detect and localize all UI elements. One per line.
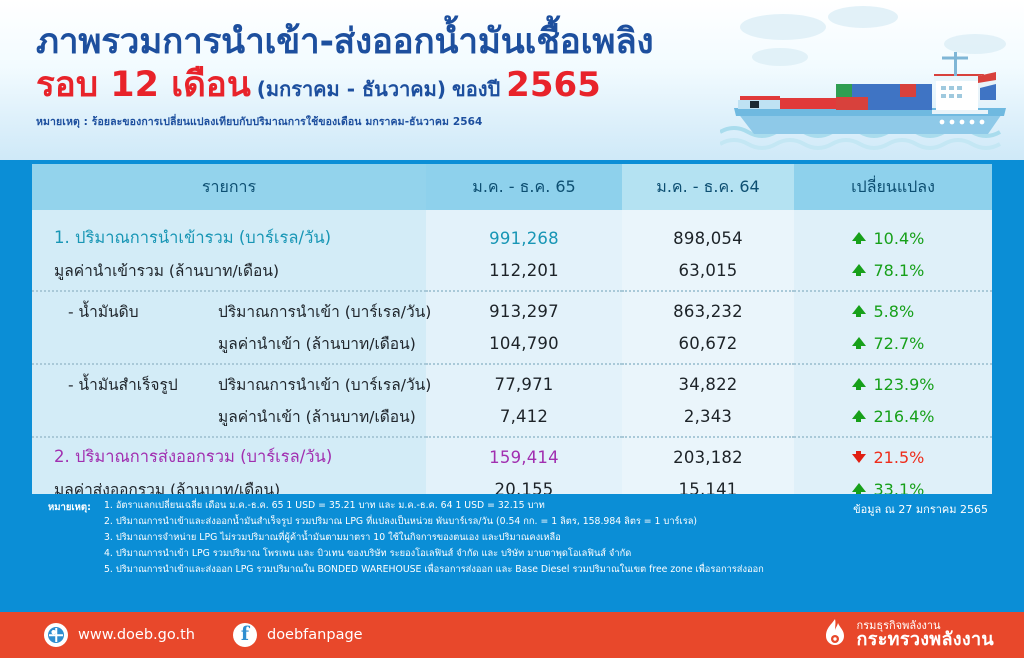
value-2565: 104,790 bbox=[489, 334, 559, 353]
value-2564: 203,182 bbox=[673, 448, 743, 467]
facebook-icon[interactable]: f bbox=[233, 623, 257, 647]
col-header-2564: ม.ค. - ธ.ค. 64 bbox=[622, 164, 794, 210]
footnote-item: 2. ปริมาณการนำเข้าและส่งออกน้ำมันสำเร็จร… bbox=[104, 514, 804, 530]
footer-bar: www.doeb.go.th f doebfanpage กรมธุรกิจพล… bbox=[0, 612, 1024, 658]
row-label: มูลค่านำเข้ารวม (ล้านบาท/เดือน) bbox=[54, 258, 425, 283]
row-separator bbox=[32, 359, 992, 368]
change-percent: 21.5% bbox=[874, 448, 936, 467]
header-subnote: หมายเหตุ : ร้อยละของการเปลี่ยนแปลงเทียบก… bbox=[36, 113, 756, 130]
value-2564: 60,672 bbox=[679, 334, 738, 353]
col-header-2565: ม.ค. - ธ.ค. 65 bbox=[426, 164, 622, 210]
value-2565: 7,412 bbox=[500, 407, 548, 426]
page-title-line1: ภาพรวมการนำเข้า-ส่งออกน้ำมันเชื้อเพลิง bbox=[36, 22, 756, 63]
website-link[interactable]: www.doeb.go.th bbox=[78, 627, 195, 643]
globe-icon[interactable] bbox=[44, 623, 68, 647]
infographic-page: ภาพรวมการนำเข้า-ส่งออกน้ำมันเชื้อเพลิง ร… bbox=[0, 0, 1024, 658]
row-label-secondary: ปริมาณการนำเข้า (บาร์เรล/วัน) bbox=[218, 372, 431, 397]
change-percent: 123.9% bbox=[874, 375, 936, 394]
row-label-primary: 2. ปริมาณการส่งออกรวม (บาร์เรล/วัน) bbox=[54, 444, 332, 470]
value-2565: 159,414 bbox=[489, 448, 559, 467]
title-of-year: ของปี bbox=[452, 73, 500, 105]
table-row: มูลค่านำเข้ารวม (ล้านบาท/เดือน)112,20163… bbox=[32, 254, 992, 286]
cloud-decoration bbox=[828, 6, 898, 28]
row-label-primary: 1. ปริมาณการนำเข้ารวม (บาร์เรล/วัน) bbox=[54, 225, 331, 251]
change-percent: 72.7% bbox=[874, 334, 936, 353]
footer-social-links: www.doeb.go.th f doebfanpage bbox=[44, 623, 363, 647]
title-year: 2565 bbox=[506, 65, 601, 105]
table-row: 1. ปริมาณการนำเข้ารวม (บาร์เรล/วัน)991,2… bbox=[32, 222, 992, 254]
row-separator bbox=[32, 286, 992, 295]
col-header-change: เปลี่ยนแปลง bbox=[794, 164, 992, 210]
change-cell: 5.8% bbox=[795, 302, 991, 321]
change-cell: 72.7% bbox=[795, 334, 991, 353]
change-percent: 216.4% bbox=[874, 407, 936, 426]
row-label: 2. ปริมาณการส่งออกรวม (บาร์เรล/วัน) bbox=[54, 444, 425, 470]
import-export-table: รายการ ม.ค. - ธ.ค. 65 ม.ค. - ธ.ค. 64 เปล… bbox=[32, 164, 992, 519]
arrow-up-icon bbox=[851, 410, 867, 422]
footnotes-label: หมายเหตุ: bbox=[48, 500, 91, 515]
footnote-item: 3. ปริมาณการจำหน่าย LPG ไม่รวมปริมาณที่ผ… bbox=[104, 530, 804, 546]
value-2564: 863,232 bbox=[673, 302, 743, 321]
row-label-primary: - น้ำมันสำเร็จรูป bbox=[68, 372, 218, 397]
value-2565: 991,268 bbox=[489, 229, 559, 248]
brand-text: กรมธุรกิจพลังงาน กระทรวงพลังงาน bbox=[857, 620, 994, 650]
data-table-panel: รายการ ม.ค. - ธ.ค. 65 ม.ค. - ธ.ค. 64 เปล… bbox=[32, 164, 992, 490]
row-label: 1. ปริมาณการนำเข้ารวม (บาร์เรล/วัน) bbox=[54, 225, 425, 251]
row-label-secondary: มูลค่านำเข้า (ล้านบาท/เดือน) bbox=[218, 404, 416, 429]
table-row: - น้ำมันสำเร็จรูปปริมาณการนำเข้า (บาร์เร… bbox=[32, 368, 992, 400]
title-period: รอบ 12 เดือน bbox=[36, 66, 251, 105]
table-row: 2. ปริมาณการส่งออกรวม (บาร์เรล/วัน)159,4… bbox=[32, 441, 992, 473]
flame-logo-icon bbox=[822, 618, 848, 652]
row-label-secondary: ปริมาณการนำเข้า (บาร์เรล/วัน) bbox=[218, 299, 431, 324]
value-2564: 2,343 bbox=[684, 407, 732, 426]
change-percent: 10.4% bbox=[874, 229, 936, 248]
change-cell: 216.4% bbox=[795, 407, 991, 426]
footnote-item: 1. อัตราแลกเปลี่ยนเฉลี่ย เดือน ม.ค.-ธ.ค.… bbox=[104, 498, 804, 514]
value-2564: 898,054 bbox=[673, 229, 743, 248]
row-separator bbox=[32, 432, 992, 441]
footnotes-section: หมายเหตุ: 1. อัตราแลกเปลี่ยนเฉลี่ย เดือน… bbox=[0, 494, 1024, 606]
table-row: - น้ำมันดิบปริมาณการนำเข้า (บาร์เรล/วัน)… bbox=[32, 295, 992, 327]
change-cell: 123.9% bbox=[795, 375, 991, 394]
arrow-up-icon bbox=[851, 337, 867, 349]
ministry-logo: กรมธุรกิจพลังงาน กระทรวงพลังงาน bbox=[822, 618, 994, 652]
arrow-up-icon bbox=[851, 232, 867, 244]
row-label: มูลค่านำเข้า (ล้านบาท/เดือน) bbox=[54, 404, 425, 429]
cargo-ship-icon bbox=[720, 36, 1020, 156]
title-block: ภาพรวมการนำเข้า-ส่งออกน้ำมันเชื้อเพลิง ร… bbox=[36, 22, 756, 130]
row-label: - น้ำมันสำเร็จรูปปริมาณการนำเข้า (บาร์เร… bbox=[54, 372, 425, 397]
change-cell: 78.1% bbox=[795, 261, 991, 280]
row-label-secondary: มูลค่านำเข้า (ล้านบาท/เดือน) bbox=[218, 331, 416, 356]
footnote-item: 5. ปริมาณการนำเข้าและส่งออก LPG รวมปริมา… bbox=[104, 562, 804, 578]
value-2564: 63,015 bbox=[679, 261, 738, 280]
facebook-link[interactable]: doebfanpage bbox=[267, 627, 363, 643]
value-2564: 34,822 bbox=[679, 375, 738, 394]
arrow-up-icon bbox=[851, 378, 867, 390]
value-2565: 112,201 bbox=[489, 261, 559, 280]
row-label: - น้ำมันดิบปริมาณการนำเข้า (บาร์เรล/วัน) bbox=[54, 299, 425, 324]
arrow-up-icon bbox=[851, 305, 867, 317]
value-2565: 913,297 bbox=[489, 302, 559, 321]
brand-ministry: กระทรวงพลังงาน bbox=[857, 631, 994, 650]
footnote-item: 4. ปริมาณการนำเข้า LPG รวมปริมาณ โพรเพน … bbox=[104, 546, 804, 562]
arrow-down-icon bbox=[851, 451, 867, 463]
row-spacer bbox=[32, 210, 992, 222]
page-title-line2: รอบ 12 เดือน (มกราคม - ธันวาคม) ของปี 25… bbox=[36, 65, 756, 105]
change-percent: 78.1% bbox=[874, 261, 936, 280]
col-header-item: รายการ bbox=[32, 164, 426, 210]
change-cell: 21.5% bbox=[795, 448, 991, 467]
row-label-primary: - น้ำมันดิบ bbox=[68, 299, 218, 324]
table-row: มูลค่านำเข้า (ล้านบาท/เดือน)104,79060,67… bbox=[32, 327, 992, 359]
table-body: 1. ปริมาณการนำเข้ารวม (บาร์เรล/วัน)991,2… bbox=[32, 210, 992, 519]
table-header: รายการ ม.ค. - ธ.ค. 65 ม.ค. - ธ.ค. 64 เปล… bbox=[32, 164, 992, 210]
change-cell: 10.4% bbox=[795, 229, 991, 248]
as-of-date: ข้อมูล ณ 27 มกราคม 2565 bbox=[853, 500, 988, 518]
row-label: มูลค่านำเข้า (ล้านบาท/เดือน) bbox=[54, 331, 425, 356]
footnotes-list: 1. อัตราแลกเปลี่ยนเฉลี่ย เดือน ม.ค.-ธ.ค.… bbox=[104, 498, 804, 578]
title-months: (มกราคม - ธันวาคม) bbox=[257, 73, 446, 105]
row-label-primary: มูลค่านำเข้ารวม (ล้านบาท/เดือน) bbox=[54, 258, 279, 283]
value-2565: 77,971 bbox=[495, 375, 554, 394]
change-percent: 5.8% bbox=[874, 302, 936, 321]
table-row: มูลค่านำเข้า (ล้านบาท/เดือน)7,4122,34321… bbox=[32, 400, 992, 432]
arrow-up-icon bbox=[851, 264, 867, 276]
